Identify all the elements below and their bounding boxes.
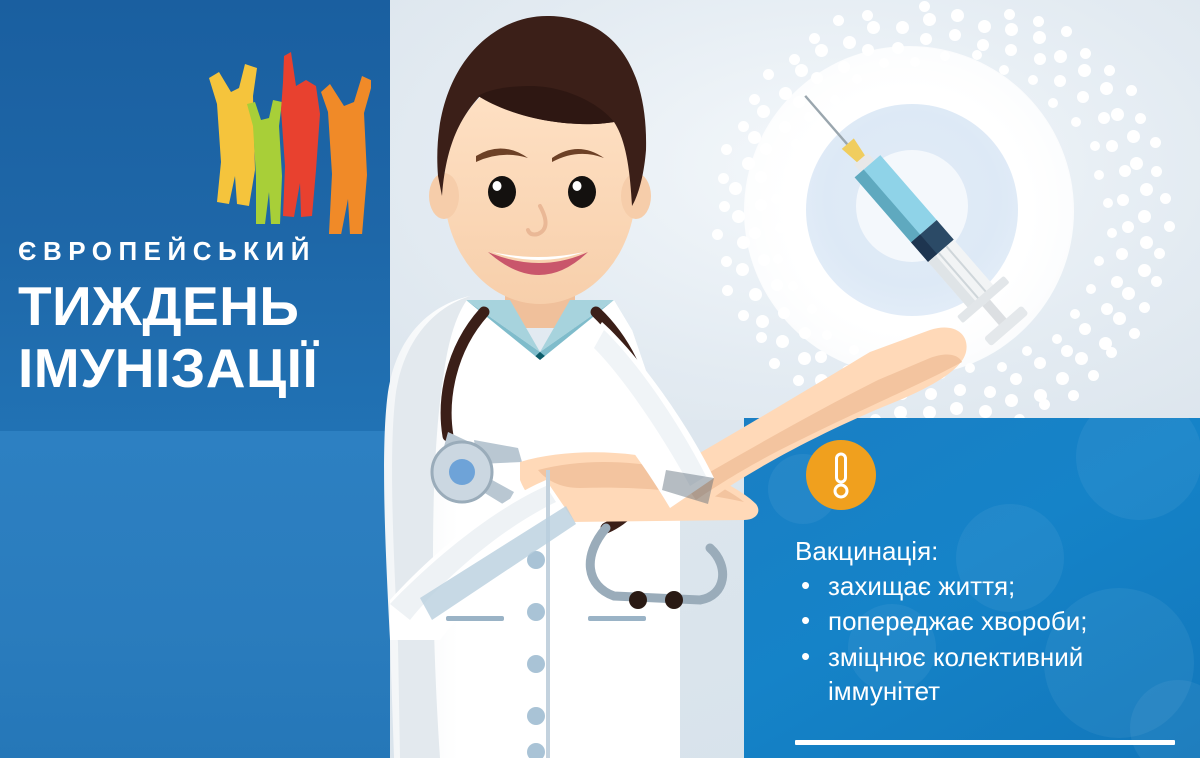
decorative-dot: [1088, 370, 1099, 381]
decorative-dot: [1111, 276, 1123, 288]
decorative-dot: [1103, 198, 1113, 208]
decorative-dot: [1104, 65, 1115, 76]
decorative-dot: [1077, 91, 1089, 103]
decorative-dot: [1122, 287, 1135, 300]
decorative-dot: [1061, 26, 1072, 37]
decorative-dot: [1033, 16, 1044, 27]
decorative-dot: [1098, 112, 1110, 124]
decorative-dot: [1100, 82, 1113, 95]
decorative-dot: [1150, 137, 1161, 148]
list-item: захищає життя;: [795, 570, 1185, 604]
decorative-dot: [1140, 236, 1153, 249]
decorative-dot: [1140, 183, 1153, 196]
message-heading: Вакцинація:: [795, 536, 1185, 567]
title-line-week: ТИЖДЕНЬ: [18, 278, 390, 336]
list-item: попереджає хвороби;: [795, 605, 1185, 639]
title-line-immunization: ІМУНІЗАЦІЇ: [18, 340, 390, 398]
decorative-dot: [1075, 352, 1088, 365]
decorative-dot: [1101, 303, 1113, 315]
exclamation-badge: [806, 440, 876, 510]
decorative-dot: [1033, 31, 1046, 44]
decorative-dot: [1151, 166, 1162, 177]
decorative-dot: [1164, 221, 1175, 232]
bottom-divider: [795, 740, 1175, 745]
exclamation-icon: [806, 440, 876, 510]
decorative-dot: [1039, 399, 1050, 410]
decorative-dot: [1107, 228, 1117, 238]
decorative-dot: [1151, 276, 1162, 287]
decorative-dot: [1090, 141, 1100, 151]
decorative-dot: [1106, 140, 1118, 152]
decorative-dot: [1160, 193, 1171, 204]
decorative-dot: [1139, 302, 1150, 313]
decorative-dot: [1129, 328, 1140, 339]
decorative-dot: [1135, 113, 1146, 124]
figures-logo-icon: [185, 48, 371, 234]
decorative-dot: [1117, 194, 1129, 206]
decorative-dot: [1130, 157, 1143, 170]
decorative-dot: [1079, 323, 1091, 335]
decorative-dot: [1094, 170, 1104, 180]
immunization-week-poster: ЄВРОПЕЙСЬКИЙ ТИЖДЕНЬ ІМУНІЗАЦІЇ Вакцинац…: [0, 0, 1200, 758]
decorative-dot: [1154, 248, 1165, 259]
decorative-dot: [1111, 108, 1124, 121]
decorative-dot: [1119, 165, 1131, 177]
decorative-dot: [1094, 256, 1104, 266]
decorative-dot: [1068, 390, 1079, 401]
decorative-dot: [1116, 248, 1128, 260]
decorative-dot: [1106, 347, 1117, 358]
decorative-dot: [1126, 85, 1137, 96]
decorative-dot: [1122, 221, 1134, 233]
decorative-dot: [1138, 264, 1151, 277]
decorative-dot: [1086, 284, 1096, 294]
vaccination-message: Вакцинація: захищає життя; попереджає хв…: [795, 536, 1185, 711]
list-item: зміцнює колективний іммунітет: [795, 641, 1185, 709]
decorative-dot: [1113, 312, 1126, 325]
decorative-dot: [1138, 210, 1151, 223]
title-line-european: ЄВРОПЕЙСЬКИЙ: [18, 238, 390, 264]
decorative-dot: [1080, 48, 1091, 59]
left-panel-lower: [0, 431, 390, 758]
panel-blob: [1076, 418, 1200, 520]
page-title: ЄВРОПЕЙСЬКИЙ ТИЖДЕНЬ ІМУНІЗАЦІЇ: [18, 238, 390, 398]
decorative-dot: [1127, 130, 1140, 143]
message-bullet-list: захищає життя; попереджає хвороби; зміцн…: [795, 570, 1185, 709]
decorative-dot: [1078, 64, 1091, 77]
